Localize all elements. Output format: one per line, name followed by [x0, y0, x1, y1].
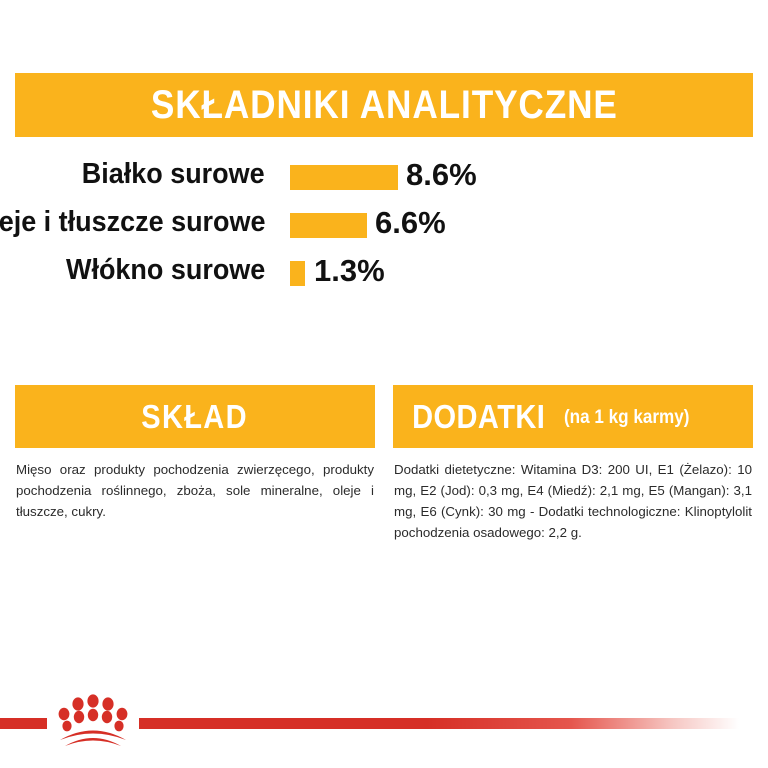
nutrition-panel: SKŁADNIKI ANALITYCZNE Białko surowe 8.6%… [0, 0, 768, 768]
chart-row-value: 8.6% [406, 152, 477, 200]
composition-header: SKŁAD [15, 385, 375, 448]
chart-row: Włókno surowe 1.3% [0, 248, 768, 296]
chart-row: Białko surowe 8.6% [0, 152, 768, 200]
composition-title: SKŁAD [142, 400, 249, 433]
composition-text: Mięso oraz produkty pochodzenia zwierzęc… [16, 459, 374, 522]
additives-subtitle: (na 1 kg karmy) [564, 407, 689, 429]
chart-bar [290, 213, 367, 238]
analytical-constituents-header: SKŁADNIKI ANALITYCZNE [15, 73, 753, 137]
analytical-constituents-chart: Białko surowe 8.6% Oleje i tłuszcze suro… [0, 152, 768, 296]
chart-row-label: Białko surowe [82, 152, 265, 200]
footer-rule-left [0, 718, 47, 729]
chart-row: Oleje i tłuszcze surowe 6.6% [0, 200, 768, 248]
footer [0, 712, 768, 734]
chart-row-label: Włókno surowe [66, 248, 265, 296]
chart-row-label: Oleje i tłuszcze surowe [0, 200, 265, 248]
chart-bar-track [290, 165, 398, 190]
additives-header: DODATKI (na 1 kg karmy) [393, 385, 753, 448]
footer-rule-right [139, 718, 739, 729]
chart-row-value: 1.3% [314, 248, 385, 296]
chart-bar [290, 165, 398, 190]
analytical-constituents-title: SKŁADNIKI ANALITYCZNE [151, 85, 618, 125]
additives-text: Dodatki dietetyczne: Witamina D3: 200 UI… [394, 459, 752, 543]
chart-bar-track [290, 261, 305, 286]
royal-canin-crown-logo [52, 690, 134, 746]
chart-row-value: 6.6% [375, 200, 446, 248]
chart-bar [290, 261, 305, 286]
chart-bar-track [290, 213, 367, 238]
additives-title: DODATKI [412, 400, 545, 433]
